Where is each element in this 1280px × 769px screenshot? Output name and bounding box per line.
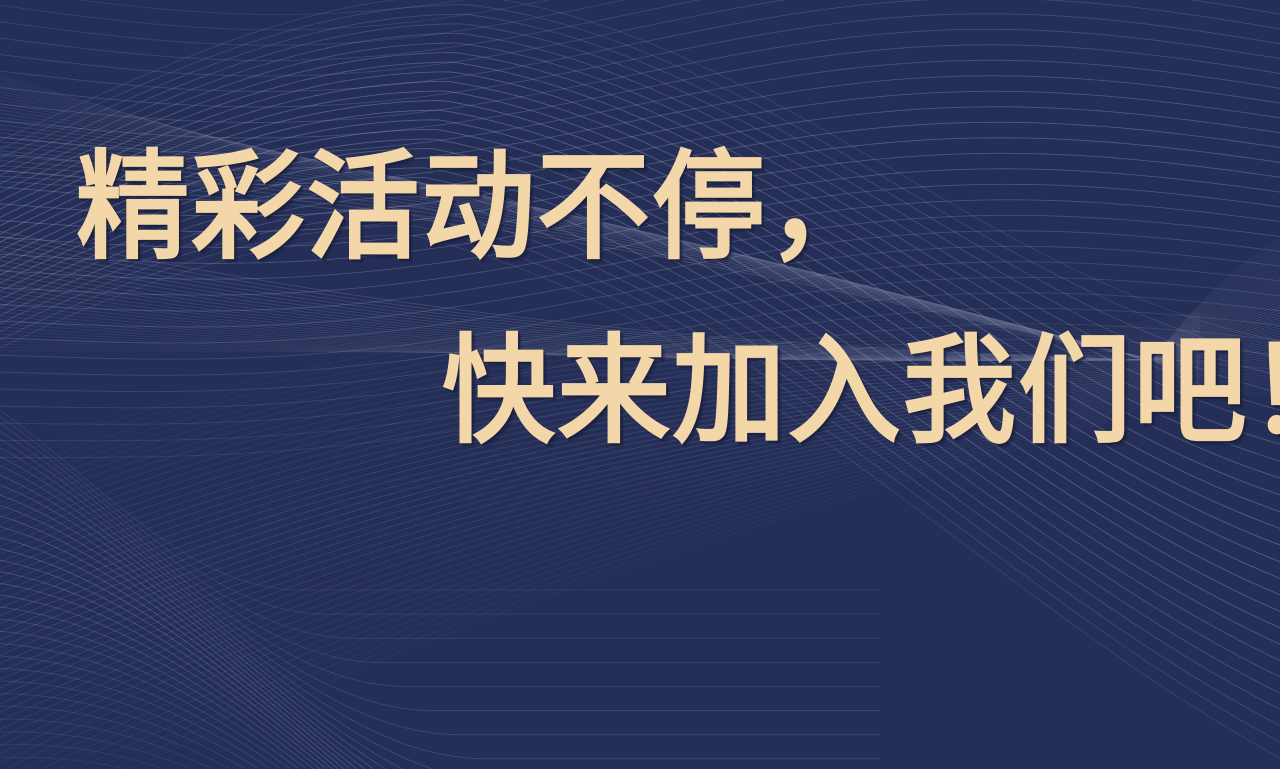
headline-block: 精彩活动不停， 快来加入我们吧！	[0, 0, 1280, 769]
promo-banner: 精彩活动不停， 快来加入我们吧！	[0, 0, 1280, 769]
headline-line-2: 快来加入我们吧！	[442, 332, 1280, 450]
headline-line-1: 精彩活动不停，	[76, 148, 882, 266]
